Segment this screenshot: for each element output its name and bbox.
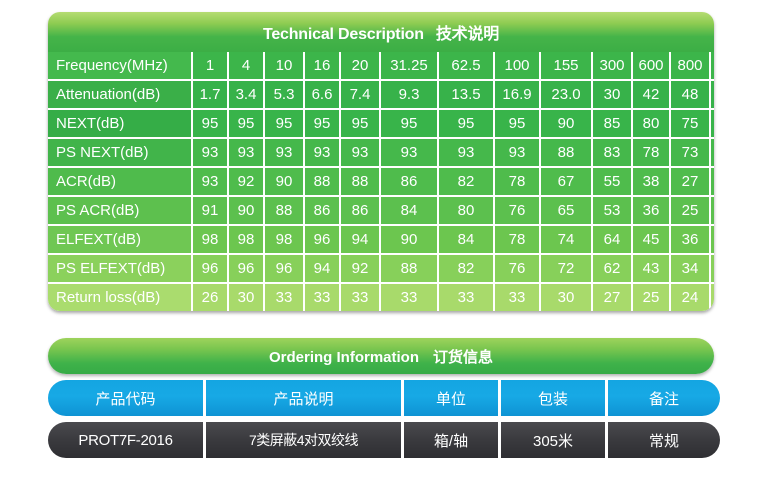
technical-description-panel: Technical Description技术说明 Frequency(MHz)… — [48, 12, 714, 311]
technical-description-banner: Technical Description技术说明 — [48, 12, 714, 52]
table-cell: 100 — [495, 52, 539, 79]
table-cell: 65 — [541, 197, 591, 224]
table-cell: 1 — [193, 52, 227, 79]
column-header-packaging: 包装 — [501, 380, 605, 416]
table-cell: 76 — [495, 255, 539, 282]
cell-remarks: 常规 — [608, 422, 720, 458]
technical-description-title-en: Technical Description — [263, 26, 424, 43]
table-cell: 84 — [381, 197, 437, 224]
column-header-product-description: 产品说明 — [206, 380, 401, 416]
table-cell: 13.5 — [439, 81, 493, 108]
table-cell: 83 — [593, 139, 631, 166]
table-cell: 88 — [381, 255, 437, 282]
table-row: PS ELFEXT(dB) 96 96 96 94 92 88 82 76 72… — [48, 255, 714, 282]
table-cell: 36 — [671, 226, 709, 253]
row-label-ps-acr: PS ACR(dB) — [48, 197, 191, 224]
table-row: ACR(dB) 93 92 90 88 88 86 82 78 67 55 38… — [48, 168, 714, 195]
table-cell: 72 — [541, 255, 591, 282]
table-cell: 93 — [193, 168, 227, 195]
table-cell: 62 — [711, 81, 714, 108]
table-cell: 36 — [633, 197, 669, 224]
ordering-information-title-cn: 订货信息 — [433, 349, 493, 366]
table-cell: 98 — [265, 226, 303, 253]
table-cell: 64 — [711, 110, 714, 137]
table-cell: 45 — [633, 226, 669, 253]
table-cell: 75 — [671, 110, 709, 137]
table-cell: 27 — [593, 284, 631, 311]
row-label-return-loss: Return loss(dB) — [48, 284, 191, 311]
column-header-product-code: 产品代码 — [48, 380, 203, 416]
table-cell: 20 — [341, 52, 379, 79]
table-cell: 86 — [341, 197, 379, 224]
table-cell: 33 — [265, 284, 303, 311]
cell-unit: 箱/轴 — [404, 422, 498, 458]
row-label-frequency: Frequency(MHz) — [48, 52, 191, 79]
technical-specs-table: Frequency(MHz) 1 4 10 16 20 31.25 62.5 1… — [48, 52, 714, 311]
table-cell: 76 — [495, 197, 539, 224]
table-cell: 96 — [265, 255, 303, 282]
table-cell: 62 — [711, 139, 714, 166]
ordering-information-panel: Ordering Information订货信息 产品代码 产品说明 单位 包装… — [48, 338, 714, 458]
table-cell: 98 — [193, 226, 227, 253]
table-cell: 62.5 — [439, 52, 493, 79]
table-cell: 82 — [439, 168, 493, 195]
table-cell: 23.0 — [541, 81, 591, 108]
table-cell: 90 — [265, 168, 303, 195]
table-cell: 33 — [439, 284, 493, 311]
table-cell: 33 — [305, 284, 339, 311]
table-cell: 600 — [633, 52, 669, 79]
table-cell: 22 — [711, 255, 714, 282]
table-cell: 94 — [305, 255, 339, 282]
row-label-ps-next: PS NEXT(dB) — [48, 139, 191, 166]
table-cell: 2 — [711, 168, 714, 195]
table-cell: 93 — [439, 139, 493, 166]
table-cell: 64 — [593, 226, 631, 253]
ordering-information-banner: Ordering Information订货信息 — [48, 338, 714, 374]
table-cell: – — [711, 197, 714, 224]
row-label-ps-elfext: PS ELFEXT(dB) — [48, 255, 191, 282]
table-cell: 91 — [193, 197, 227, 224]
ordering-table-header-row: 产品代码 产品说明 单位 包装 备注 — [48, 380, 714, 416]
table-cell: 86 — [381, 168, 437, 195]
table-row: ELFEXT(dB) 98 98 98 96 94 90 84 78 74 64… — [48, 226, 714, 253]
table-cell: 5.3 — [265, 81, 303, 108]
table-cell: 53 — [593, 197, 631, 224]
table-cell: 88 — [341, 168, 379, 195]
cell-product-description: 7类屏蔽4对双绞线 — [206, 422, 401, 458]
table-cell: 95 — [265, 110, 303, 137]
table-cell: 85 — [593, 110, 631, 137]
row-label-attenuation: Attenuation(dB) — [48, 81, 191, 108]
table-cell: 16.9 — [495, 81, 539, 108]
table-cell: 155 — [541, 52, 591, 79]
table-cell: 95 — [495, 110, 539, 137]
row-label-next: NEXT(dB) — [48, 110, 191, 137]
technical-description-title-cn: 技术说明 — [436, 26, 499, 43]
table-cell: 93 — [341, 139, 379, 166]
table-cell: 16 — [305, 52, 339, 79]
ordering-table-row: PROT7F-2016 7类屏蔽4对双绞线 箱/轴 305米 常规 — [48, 422, 714, 458]
table-cell: 96 — [305, 226, 339, 253]
table-cell: 9.3 — [381, 81, 437, 108]
table-cell: 6.6 — [305, 81, 339, 108]
table-cell: 95 — [305, 110, 339, 137]
table-cell: 10 — [265, 52, 303, 79]
row-label-acr: ACR(dB) — [48, 168, 191, 195]
table-cell: 26 — [193, 284, 227, 311]
technical-description-title: Technical Description技术说明 — [263, 20, 499, 44]
table-cell: 55 — [593, 168, 631, 195]
column-header-unit: 单位 — [404, 380, 498, 416]
table-cell: 90 — [229, 197, 263, 224]
table-row: Return loss(dB) 26 30 33 33 33 33 33 33 … — [48, 284, 714, 311]
table-cell: 82 — [439, 255, 493, 282]
table-cell: 90 — [381, 226, 437, 253]
column-header-remarks: 备注 — [608, 380, 720, 416]
table-cell: 90 — [541, 110, 591, 137]
table-cell: 92 — [229, 168, 263, 195]
table-row: Frequency(MHz) 1 4 10 16 20 31.25 62.5 1… — [48, 52, 714, 79]
table-cell: 80 — [633, 110, 669, 137]
ordering-information-title-en: Ordering Information — [269, 349, 419, 366]
table-cell: 7.4 — [341, 81, 379, 108]
table-cell: 88 — [265, 197, 303, 224]
table-cell: 30 — [593, 81, 631, 108]
row-label-elfext: ELFEXT(dB) — [48, 226, 191, 253]
table-cell: 4 — [229, 52, 263, 79]
table-cell: 96 — [193, 255, 227, 282]
table-cell: 1200 — [711, 52, 714, 79]
table-cell: 800 — [671, 52, 709, 79]
table-cell: 94 — [341, 226, 379, 253]
table-cell: 1.7 — [193, 81, 227, 108]
table-cell: 93 — [305, 139, 339, 166]
table-cell: 93 — [193, 139, 227, 166]
table-cell: 93 — [495, 139, 539, 166]
table-cell: 86 — [305, 197, 339, 224]
table-cell: 98 — [229, 226, 263, 253]
table-cell: 95 — [229, 110, 263, 137]
table-cell: 95 — [341, 110, 379, 137]
table-cell: 88 — [305, 168, 339, 195]
table-cell: 88 — [541, 139, 591, 166]
table-cell: 78 — [495, 168, 539, 195]
table-cell: 300 — [593, 52, 631, 79]
table-cell: 48 — [671, 81, 709, 108]
table-cell: 95 — [439, 110, 493, 137]
table-cell: 33 — [495, 284, 539, 311]
table-cell: 42 — [633, 81, 669, 108]
table-cell: 24 — [671, 284, 709, 311]
table-cell: 73 — [671, 139, 709, 166]
table-cell: 78 — [633, 139, 669, 166]
cell-packaging: 305米 — [501, 422, 605, 458]
table-cell: 84 — [439, 226, 493, 253]
table-cell: 33 — [381, 284, 437, 311]
table-row: Attenuation(dB) 1.7 3.4 5.3 6.6 7.4 9.3 … — [48, 81, 714, 108]
table-cell: 3.4 — [229, 81, 263, 108]
table-cell: 25 — [633, 284, 669, 311]
ordering-information-title: Ordering Information订货信息 — [269, 346, 493, 367]
table-row: PS ACR(dB) 91 90 88 86 86 84 80 76 65 53… — [48, 197, 714, 224]
table-cell: 93 — [265, 139, 303, 166]
table-row: PS NEXT(dB) 93 93 93 93 93 93 93 93 88 8… — [48, 139, 714, 166]
table-row: NEXT(dB) 95 95 95 95 95 95 95 95 90 85 8… — [48, 110, 714, 137]
table-cell: 96 — [229, 255, 263, 282]
table-cell: 93 — [229, 139, 263, 166]
table-cell: 93 — [381, 139, 437, 166]
table-cell: 33 — [341, 284, 379, 311]
table-cell: 27 — [671, 168, 709, 195]
cell-product-code: PROT7F-2016 — [48, 422, 203, 458]
table-cell: 31.25 — [381, 52, 437, 79]
table-cell: 92 — [341, 255, 379, 282]
table-cell: 24 — [711, 226, 714, 253]
table-cell: 62 — [593, 255, 631, 282]
table-cell: 43 — [633, 255, 669, 282]
table-cell: 78 — [495, 226, 539, 253]
table-cell: 38 — [633, 168, 669, 195]
table-cell: 25 — [671, 197, 709, 224]
table-cell: 67 — [541, 168, 591, 195]
table-cell: 30 — [541, 284, 591, 311]
table-cell: 95 — [193, 110, 227, 137]
table-cell: 80 — [439, 197, 493, 224]
table-cell: 95 — [381, 110, 437, 137]
table-cell: 30 — [229, 284, 263, 311]
table-cell: 34 — [671, 255, 709, 282]
table-cell: 74 — [541, 226, 591, 253]
table-cell: 23 — [711, 284, 714, 311]
